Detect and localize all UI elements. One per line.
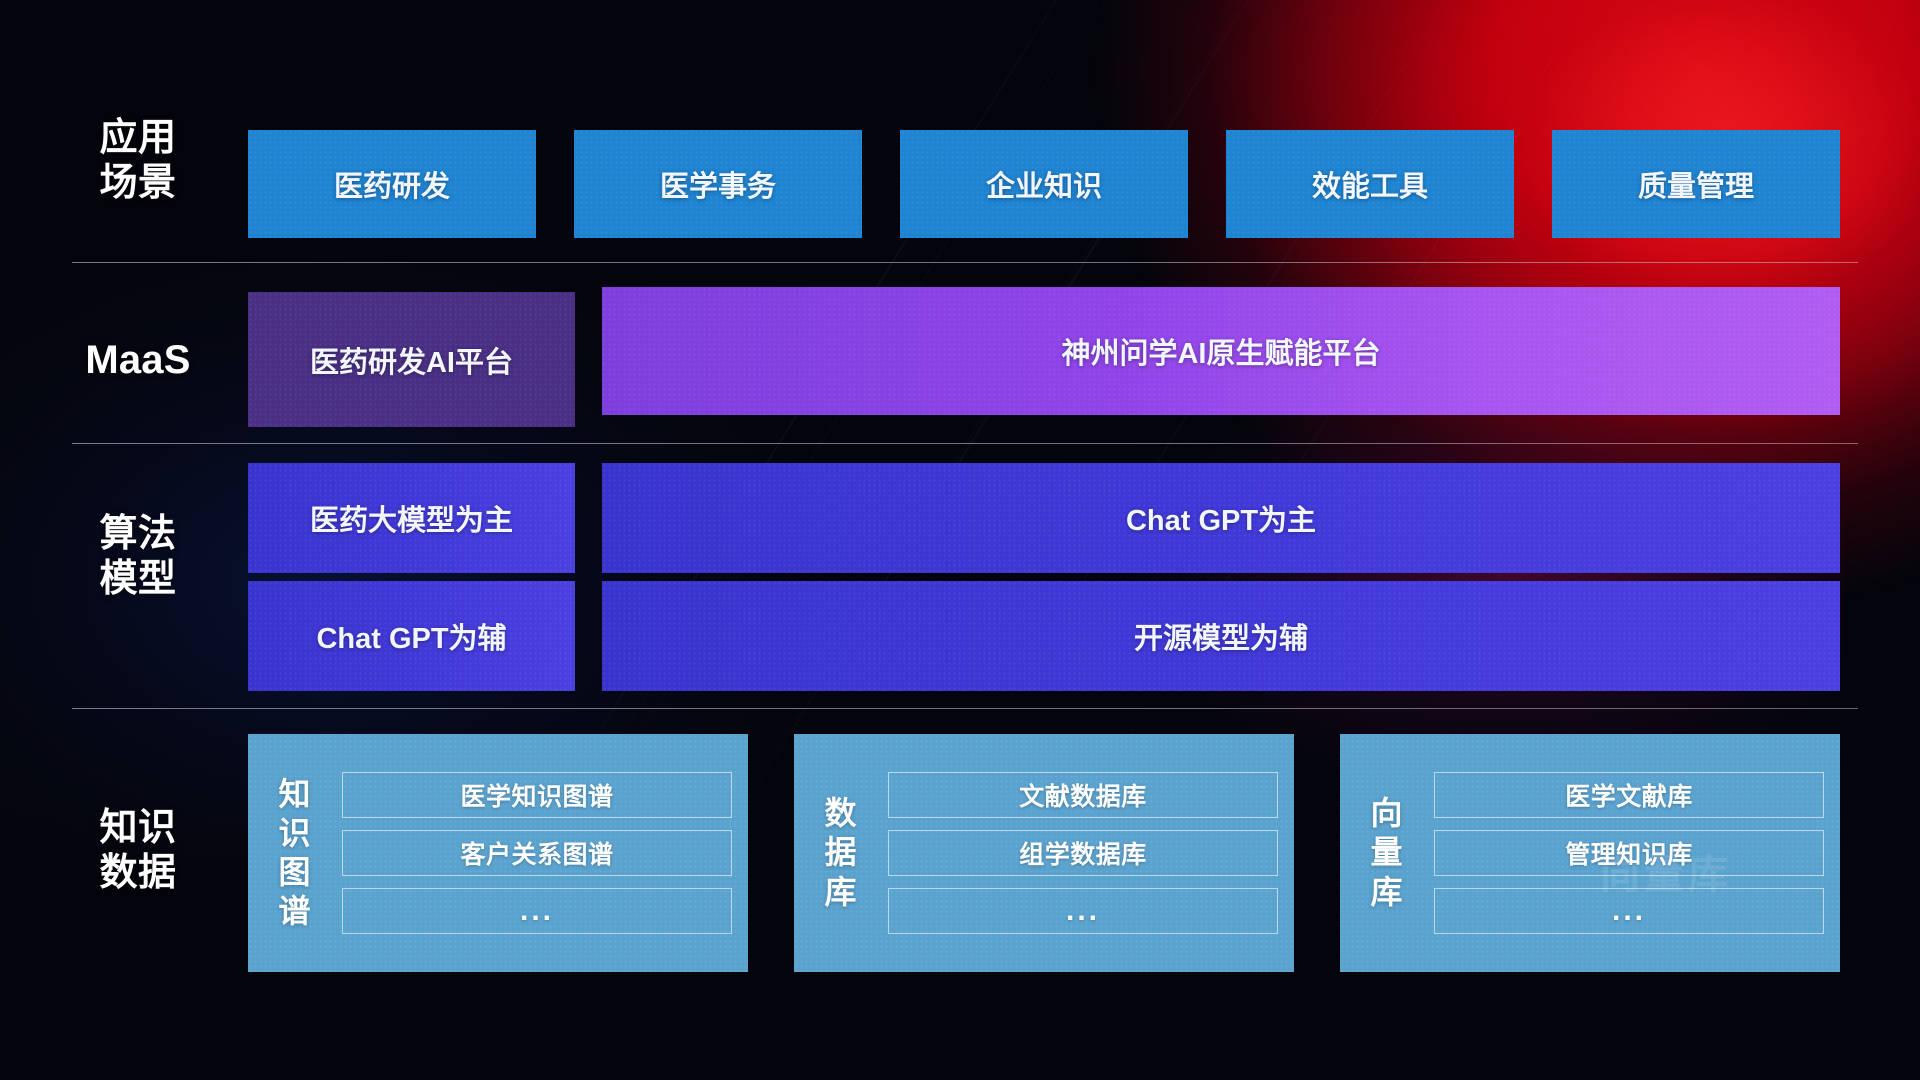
knowledge-item[interactable]: 医学知识图谱: [342, 772, 732, 818]
knowledge-panel-1[interactable]: 数 据 库 文献数据库 组学数据库 ...: [794, 734, 1294, 972]
divider-application-maas: [72, 262, 1858, 263]
algo-box-right-0[interactable]: Chat GPT为主: [602, 463, 1840, 573]
knowledge-panel-0-items: 医学知识图谱 客户关系图谱 ...: [342, 772, 732, 934]
maas-left-box[interactable]: 医药研发AI平台: [248, 292, 575, 427]
knowledge-panel-2-items: 医学文献库 管理知识库 ...: [1434, 772, 1824, 934]
knowledge-item-more[interactable]: ...: [888, 888, 1278, 934]
knowledge-item[interactable]: 管理知识库: [1434, 830, 1824, 876]
row-label-knowledge: 知识 数据: [72, 806, 204, 896]
app-box-1[interactable]: 医学事务: [574, 130, 862, 238]
knowledge-item[interactable]: 组学数据库: [888, 830, 1278, 876]
app-box-4[interactable]: 质量管理: [1552, 130, 1840, 238]
app-box-2[interactable]: 企业知识: [900, 130, 1188, 238]
knowledge-panel-2[interactable]: 向 量 库 医学文献库 管理知识库 ... 向量库: [1340, 734, 1840, 972]
knowledge-panel-0[interactable]: 知 识 图 谱 医学知识图谱 客户关系图谱 ...: [248, 734, 748, 972]
knowledge-item[interactable]: 文献数据库: [888, 772, 1278, 818]
row-label-maas: MaaS: [72, 337, 204, 384]
maas-right-box[interactable]: 神州问学AI原生赋能平台: [602, 287, 1840, 415]
knowledge-item[interactable]: 医学文献库: [1434, 772, 1824, 818]
knowledge-panel-2-title: 向 量 库: [1354, 794, 1420, 911]
knowledge-item-more[interactable]: ...: [1434, 888, 1824, 934]
algo-box-right-1[interactable]: 开源模型为辅: [602, 581, 1840, 691]
row-label-application: 应用 场景: [72, 116, 204, 206]
algo-box-left-0[interactable]: 医药大模型为主: [248, 463, 575, 573]
algo-box-left-1[interactable]: Chat GPT为辅: [248, 581, 575, 691]
divider-maas-algorithm: [72, 443, 1858, 444]
architecture-diagram: 应用 场景 医药研发 医学事务 企业知识 效能工具 质量管理 MaaS 医药研发…: [0, 0, 1920, 1080]
knowledge-panel-0-title: 知 识 图 谱: [262, 775, 328, 931]
divider-algorithm-knowledge: [72, 708, 1858, 709]
knowledge-item[interactable]: 客户关系图谱: [342, 830, 732, 876]
row-label-algorithm: 算法 模型: [72, 512, 204, 602]
app-box-3[interactable]: 效能工具: [1226, 130, 1514, 238]
knowledge-item-more[interactable]: ...: [342, 888, 732, 934]
knowledge-panel-1-items: 文献数据库 组学数据库 ...: [888, 772, 1278, 934]
app-box-0[interactable]: 医药研发: [248, 130, 536, 238]
knowledge-panel-1-title: 数 据 库: [808, 794, 874, 911]
